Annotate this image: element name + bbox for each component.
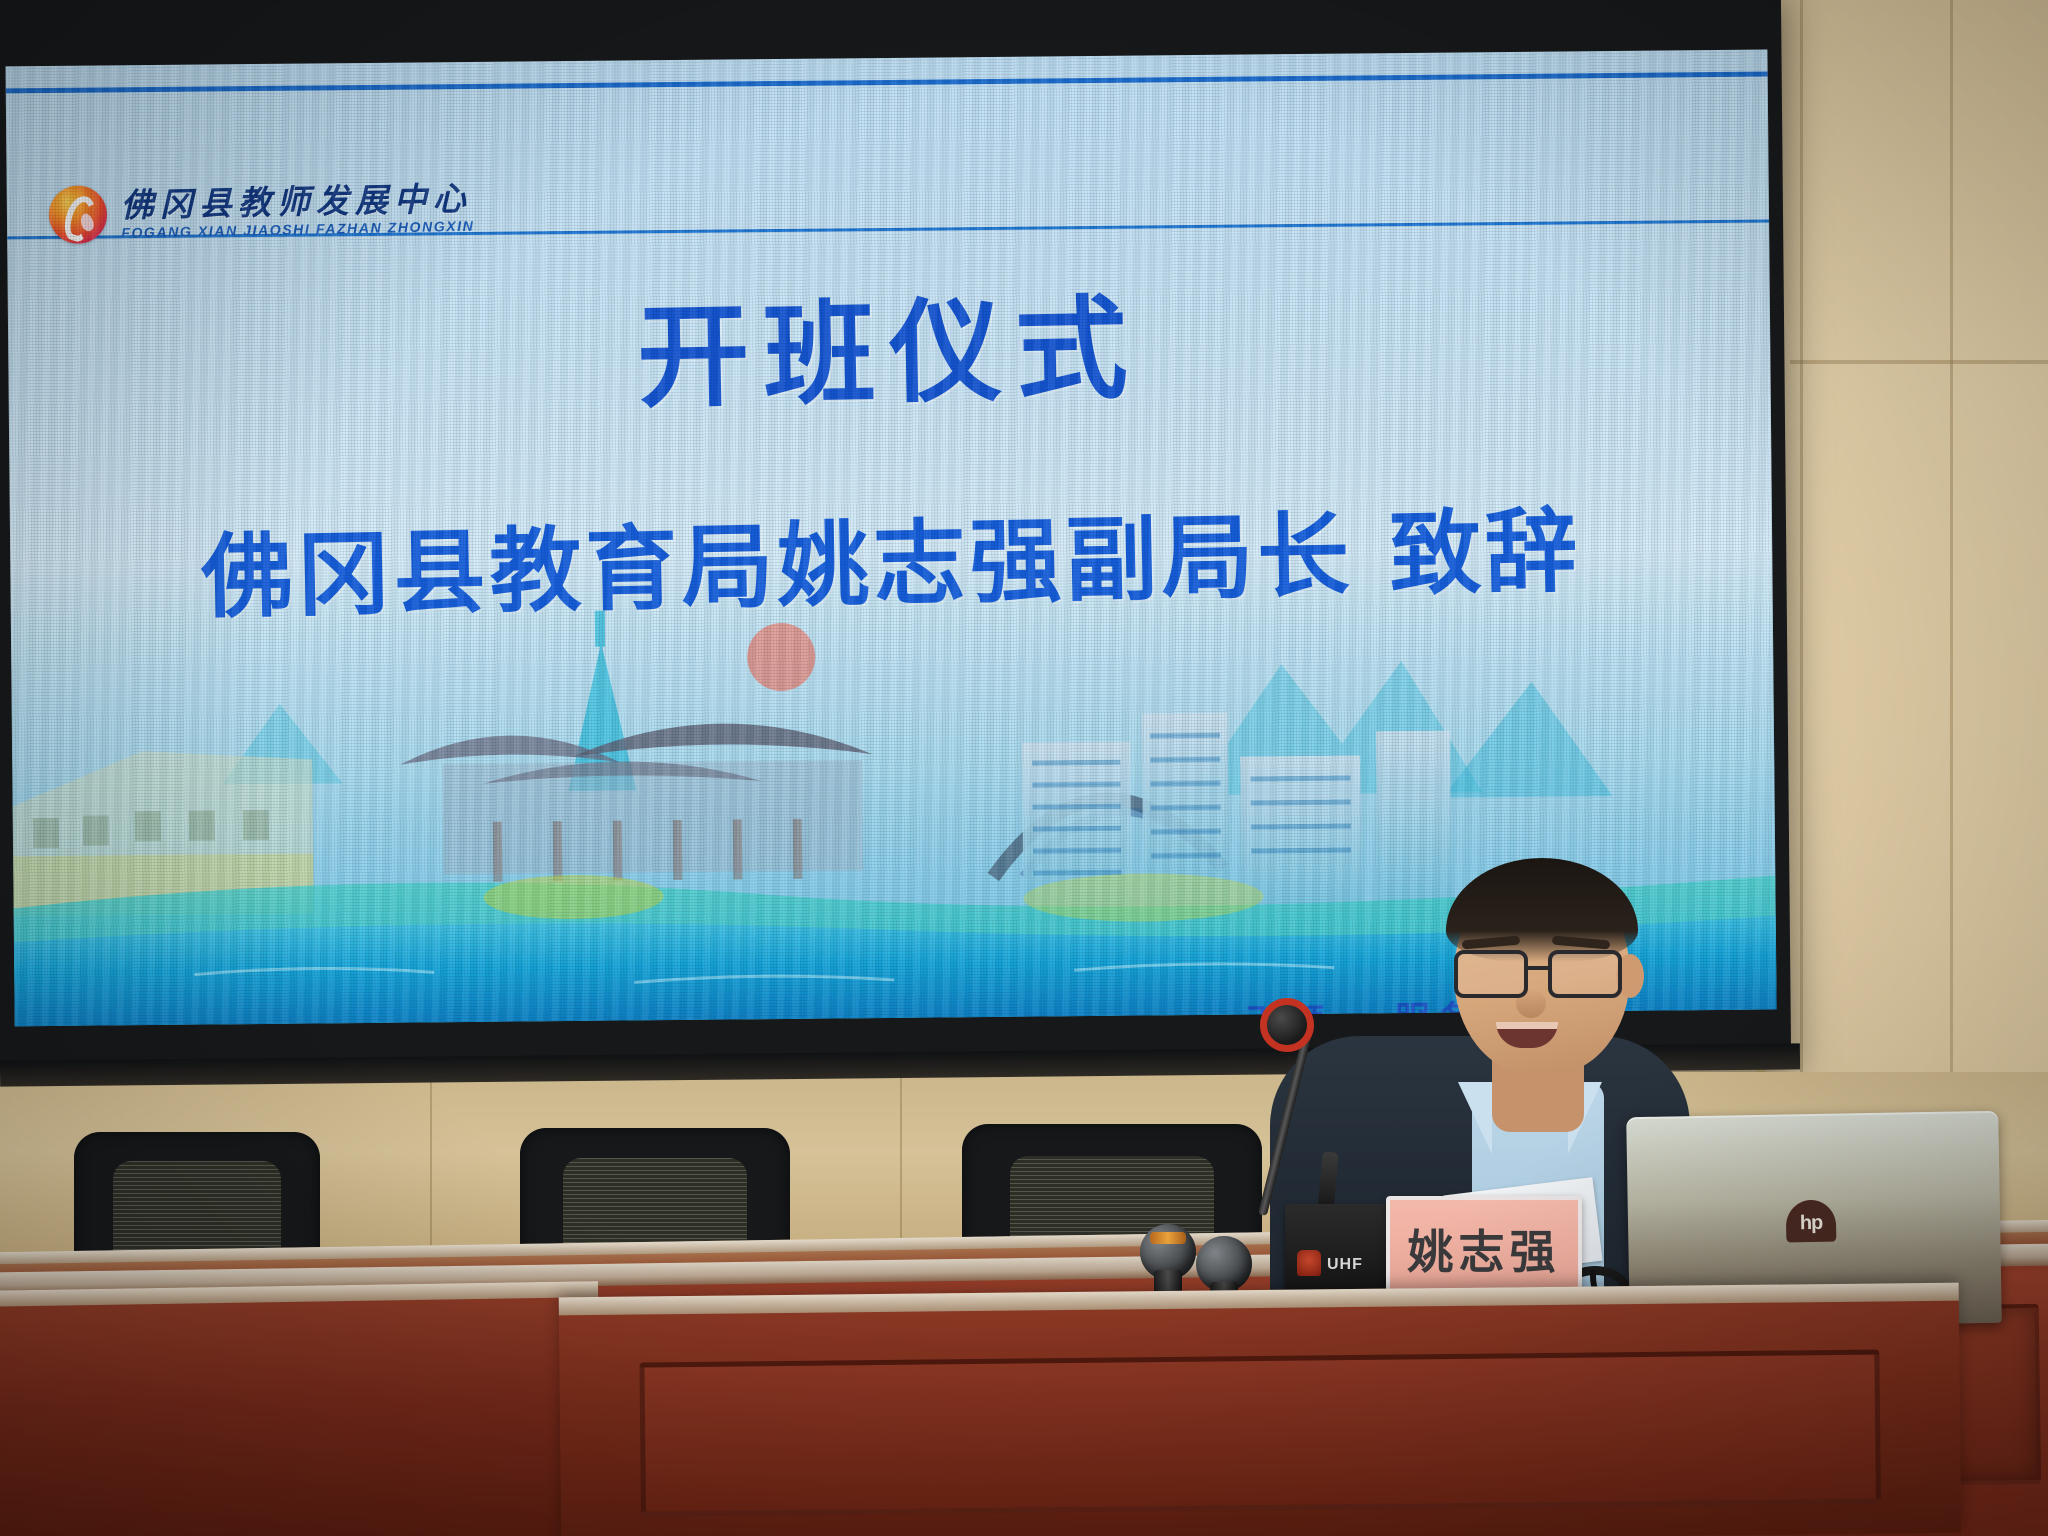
podium-inset-panel <box>639 1350 1881 1517</box>
speaker-collar-left <box>1458 1082 1492 1154</box>
chair-mesh <box>113 1161 280 1257</box>
conference-room-scene: 佛冈县教师发展中心 FOGANG XIAN JIAOSHI FAZHAN ZHO… <box>0 0 2048 1536</box>
handheld-microphone-1 <box>1140 1224 1196 1280</box>
eyeglasses-icon <box>1452 950 1640 1000</box>
handheld-microphone-2 <box>1196 1236 1252 1292</box>
slide-rule-top <box>6 72 1768 94</box>
podium-front <box>559 1283 1962 1536</box>
flame-swirl-logo-icon <box>48 185 107 244</box>
wall-band-seam-1 <box>430 1072 432 1272</box>
hp-logo-text: hp <box>1800 1211 1823 1234</box>
uhf-brand-badge-icon <box>1297 1250 1321 1276</box>
microphone-band <box>1150 1232 1186 1244</box>
name-plate-text: 姚志强 <box>1408 1216 1561 1282</box>
wall-seam-1 <box>1800 0 1803 1090</box>
slide-logo: 佛冈县教师发展中心 FOGANG XIAN JIAOSHI FAZHAN ZHO… <box>48 178 474 245</box>
slide-title: 开班仪式 <box>7 246 1772 442</box>
eyeglass-lens-right <box>1548 950 1622 998</box>
desk-left-panel <box>0 1281 602 1536</box>
wall-seam-2 <box>1950 0 1953 1120</box>
wall-seam-3 <box>1790 360 2048 364</box>
logo-chinese-name: 佛冈县教师发展中心 <box>120 181 474 221</box>
microphone-icon <box>1260 998 1314 1052</box>
eyeglass-bridge <box>1528 966 1550 970</box>
slide-logo-text: 佛冈县教师发展中心 FOGANG XIAN JIAOSHI FAZHAN ZHO… <box>120 181 474 239</box>
eyeglass-lens-left <box>1454 950 1528 998</box>
uhf-label: UHF <box>1327 1256 1363 1274</box>
